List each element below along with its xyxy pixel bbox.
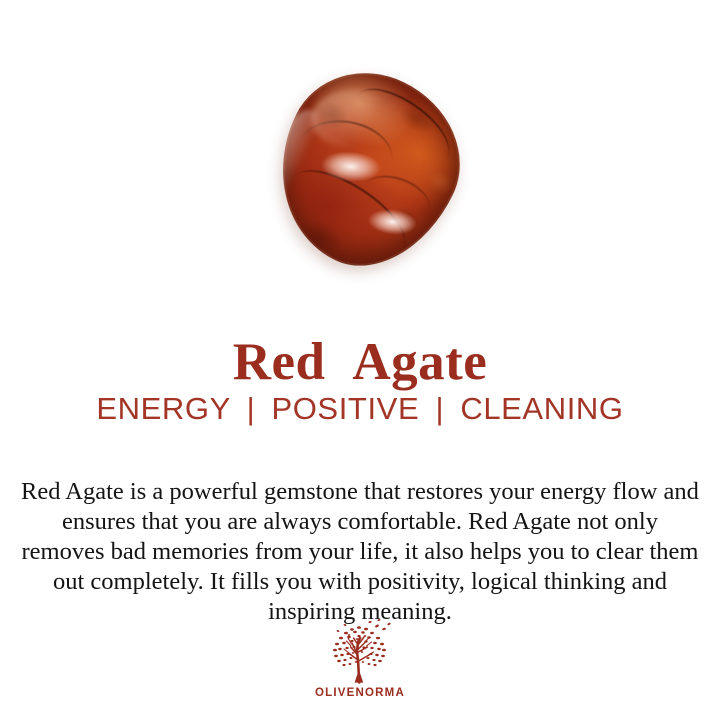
keyword-separator: | [240,391,263,426]
gemstone-rim [246,46,487,294]
description-text: Red Agate is a powerful gemstone that re… [18,477,702,627]
keyword-energy: ENERGY [96,391,230,426]
tree-icon [321,618,399,684]
product-info-card: Red Agate ENERGY | POSITIVE | CLEANING R… [0,0,720,720]
gemstone-body [246,46,487,294]
page-title: Red Agate [0,336,720,389]
gemstone-image [263,62,473,274]
keyword-cleaning: CLEANING [460,391,623,426]
brand-logo: OLIVENORMA [0,618,720,699]
brand-name: OLIVENORMA [0,687,720,699]
keyword-positive: POSITIVE [271,391,419,426]
keyword-separator: | [428,391,451,426]
keyword-list: ENERGY | POSITIVE | CLEANING [0,393,720,426]
hero-image-area [0,0,720,285]
